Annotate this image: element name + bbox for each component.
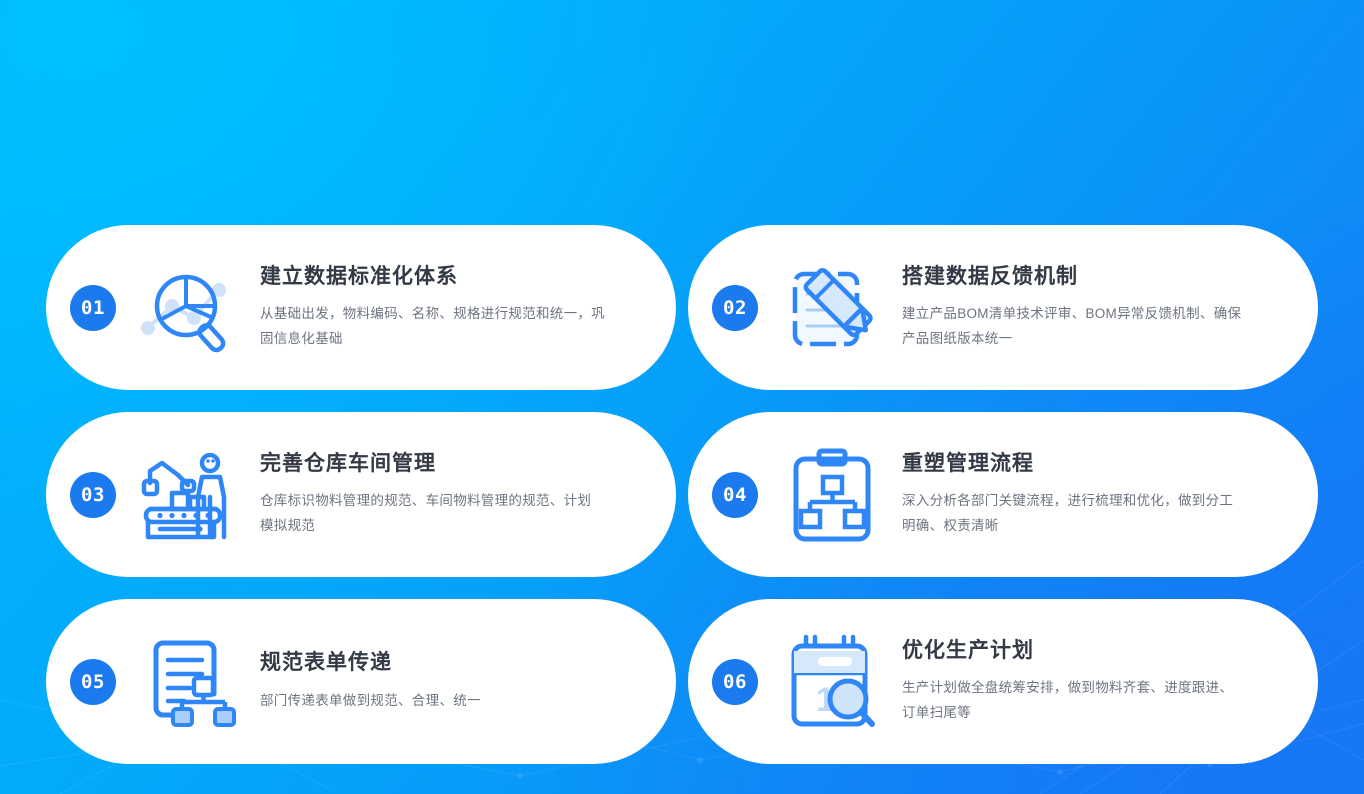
card-number-badge: 04	[712, 472, 758, 518]
service-card[interactable]: 05 规范表单传递 部门传递表单做到规范、合理、统一	[46, 599, 676, 764]
card-text-block: 优化生产计划 生产计划做全盘统筹安排，做到物料齐套、进度跟进、订单扫尾等	[902, 637, 1284, 726]
card-title: 搭建数据反馈机制	[902, 263, 1284, 290]
card-number-badge: 05	[70, 659, 116, 705]
card-number-badge: 01	[70, 285, 116, 331]
card-title: 重塑管理流程	[902, 450, 1284, 477]
card-number-badge: 03	[70, 472, 116, 518]
clipboard-hierarchy-icon	[772, 442, 892, 547]
card-description: 生产计划做全盘统筹安排，做到物料齐套、进度跟进、订单扫尾等	[902, 676, 1242, 726]
service-card[interactable]: 03	[46, 412, 676, 577]
card-text-block: 搭建数据反馈机制 建立产品BOM清单技术评审、BOM异常反馈机制、确保产品图纸版…	[902, 263, 1284, 352]
calendar-magnifier-icon: 11	[772, 629, 892, 734]
service-card-grid: 01 建立数据标准化体系	[46, 225, 1318, 764]
card-description: 建立产品BOM清单技术评审、BOM异常反馈机制、确保产品图纸版本统一	[902, 302, 1242, 352]
card-text-block: 建立数据标准化体系 从基础出发，物料编码、名称、规格进行规范和统一，巩固信息化基…	[260, 263, 642, 352]
document-flow-icon	[130, 629, 250, 734]
factory-worker-icon	[130, 442, 250, 547]
card-text-block: 重塑管理流程 深入分析各部门关键流程，进行梳理和优化，做到分工明确、权责清晰	[902, 450, 1284, 539]
service-card[interactable]: 01 建立数据标准化体系	[46, 225, 676, 390]
card-text-block: 完善仓库车间管理 仓库标识物料管理的规范、车间物料管理的规范、计划模拟规范	[260, 450, 642, 539]
card-description: 深入分析各部门关键流程，进行梳理和优化，做到分工明确、权责清晰	[902, 489, 1242, 539]
service-card[interactable]: 06 11 优化生产计划 生产计划做全盘统	[688, 599, 1318, 764]
card-title: 完善仓库车间管理	[260, 450, 642, 477]
card-description: 部门传递表单做到规范、合理、统一	[260, 689, 610, 714]
card-description: 仓库标识物料管理的规范、车间物料管理的规范、计划模拟规范	[260, 489, 600, 539]
card-description: 从基础出发，物料编码、名称、规格进行规范和统一，巩固信息化基础	[260, 302, 610, 352]
service-card[interactable]: 02 搭建数据反馈机制 建立产品BOM清单技术评审、BOM异常反馈机制、确保	[688, 225, 1318, 390]
pie-chart-magnifier-icon	[130, 255, 250, 360]
page-root: 价值服务 顺景始终坚持「管理顾问」与「软件应用」相结合的服务理念 全程价值服务，…	[0, 0, 1364, 794]
card-number-badge: 06	[712, 659, 758, 705]
card-title: 建立数据标准化体系	[260, 263, 642, 290]
card-number-badge: 02	[712, 285, 758, 331]
service-card[interactable]: 04 重塑管理流程 深入分析各部门关键流程，进行梳理和优化，做到分工明确、权责清…	[688, 412, 1318, 577]
pencil-document-icon	[772, 255, 892, 360]
card-title: 规范表单传递	[260, 649, 642, 676]
card-text-block: 规范表单传递 部门传递表单做到规范、合理、统一	[260, 649, 642, 713]
card-title: 优化生产计划	[902, 637, 1284, 664]
